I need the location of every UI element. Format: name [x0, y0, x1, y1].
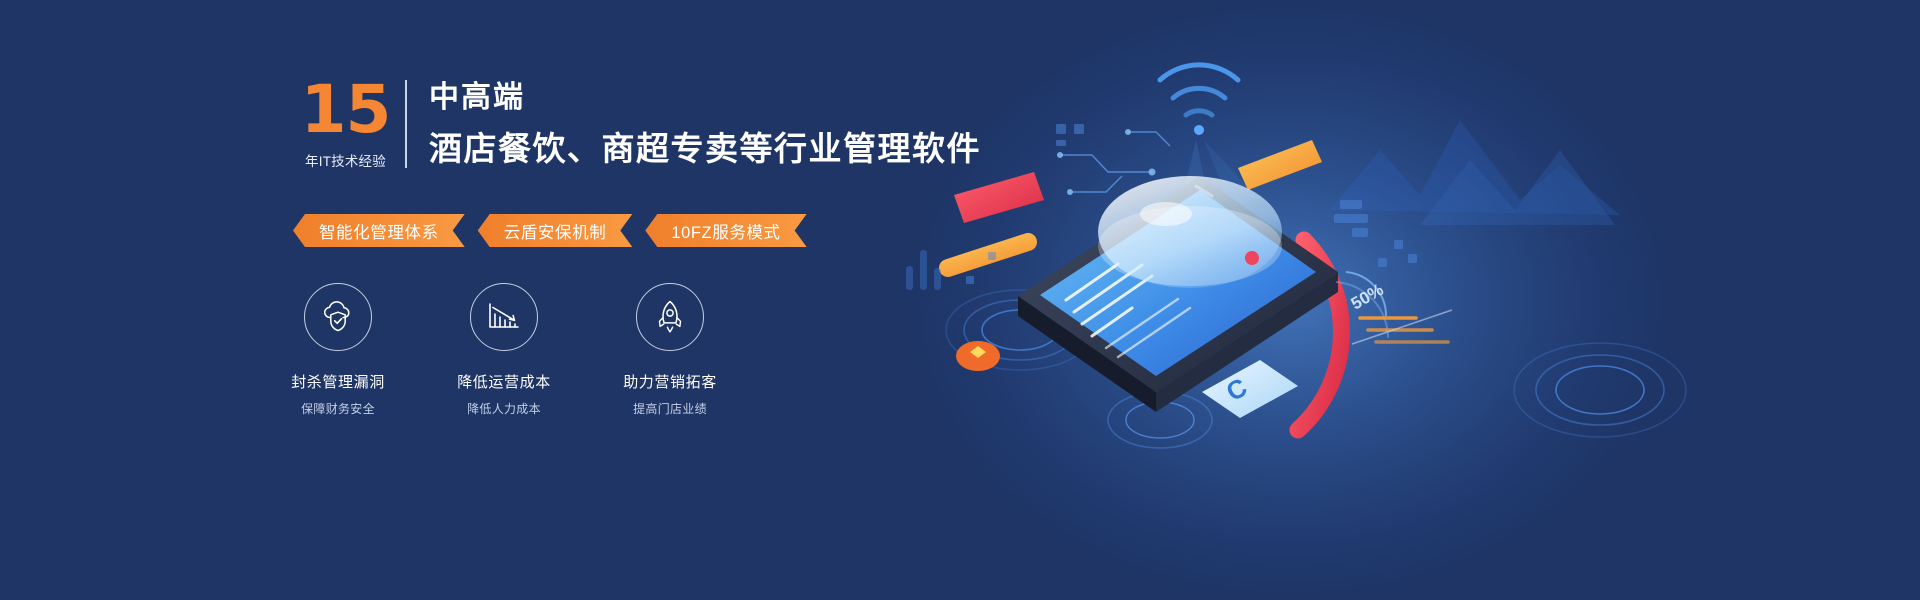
- feature-icon-circle: [636, 283, 704, 351]
- feature-subtitle: 保障财务安全: [286, 400, 390, 417]
- tag-label: 10FZ服务模式: [671, 219, 780, 243]
- feature-item-1[interactable]: 封杀管理漏洞 保障财务安全: [286, 283, 390, 417]
- feature-title: 降低运营成本: [452, 371, 556, 392]
- feature-subtitle: 降低人力成本: [452, 400, 556, 417]
- feature-title: 助力营销拓客: [618, 371, 722, 392]
- feature-icon-circle: [470, 283, 538, 351]
- tag-list: 智能化管理体系 云盾安保机制 10FZ服务模式: [293, 214, 807, 247]
- tag-pill-2[interactable]: 云盾安保机制: [478, 214, 633, 247]
- feature-item-2[interactable]: 降低运营成本 降低人力成本: [452, 283, 556, 417]
- years-number: 15: [300, 78, 391, 143]
- feature-title: 封杀管理漏洞: [286, 371, 390, 392]
- promo-banner: 15 年IT技术经验 中高端 酒店餐饮、商超专卖等行业管理软件 智能化管理体系 …: [0, 0, 1920, 600]
- left-content: 15 年IT技术经验 中高端 酒店餐饮、商超专卖等行业管理软件 智能化管理体系 …: [0, 0, 900, 600]
- feature-icon-circle: [304, 283, 372, 351]
- rocket-icon: [653, 299, 687, 335]
- declining-bar-chart-icon: [486, 300, 522, 334]
- feature-item-3[interactable]: 助力营销拓客 提高门店业绩: [618, 283, 722, 417]
- tag-label: 云盾安保机制: [504, 219, 607, 243]
- red-dot-marker: [1245, 251, 1259, 265]
- screen-bubble: [1098, 176, 1282, 288]
- years-experience-block: 15 年IT技术经验: [300, 78, 405, 170]
- tag-pill-3[interactable]: 10FZ服务模式: [645, 214, 806, 247]
- wifi-dot: [1194, 125, 1204, 135]
- cloud-shield-icon: [319, 299, 357, 335]
- hero-illustration: C 50%: [860, 0, 1920, 600]
- tag-pill-1[interactable]: 智能化管理体系: [293, 214, 465, 247]
- feature-subtitle: 提高门店业绩: [618, 400, 722, 417]
- orange-badge: [956, 341, 1000, 371]
- years-caption: 年IT技术经验: [300, 150, 391, 170]
- tag-label: 智能化管理体系: [319, 219, 439, 243]
- illustration-canvas: C 50%: [860, 0, 1920, 600]
- feature-list: 封杀管理漏洞 保障财务安全 降低运营成本 降低人力成本: [286, 283, 722, 417]
